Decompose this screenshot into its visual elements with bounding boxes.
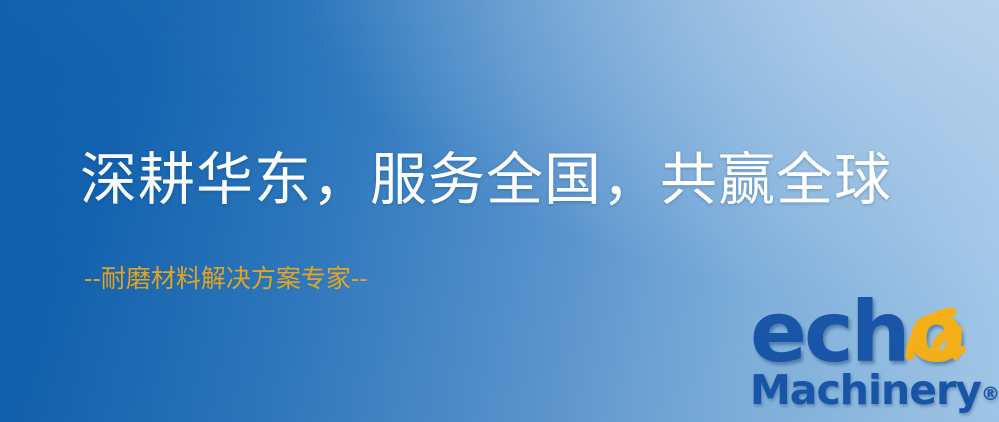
echo-machinery-logo: echo Machinery®: [748, 294, 999, 422]
registered-trademark-icon: ®: [981, 383, 999, 405]
banner-subtitle: --耐磨材料解决方案专家--: [84, 266, 368, 291]
logo-tagline: Machinery®: [750, 370, 999, 411]
promo-banner: 深耕华东，服务全国，共赢全球 --耐磨材料解决方案专家-- echo Machi…: [0, 0, 999, 422]
logo-wordmark: echo: [748, 294, 999, 376]
banner-headline: 深耕华东，服务全国，共赢全球: [80, 152, 892, 209]
logo-tagline-text: Machinery: [750, 366, 981, 414]
signal-waves-icon: [896, 294, 996, 360]
